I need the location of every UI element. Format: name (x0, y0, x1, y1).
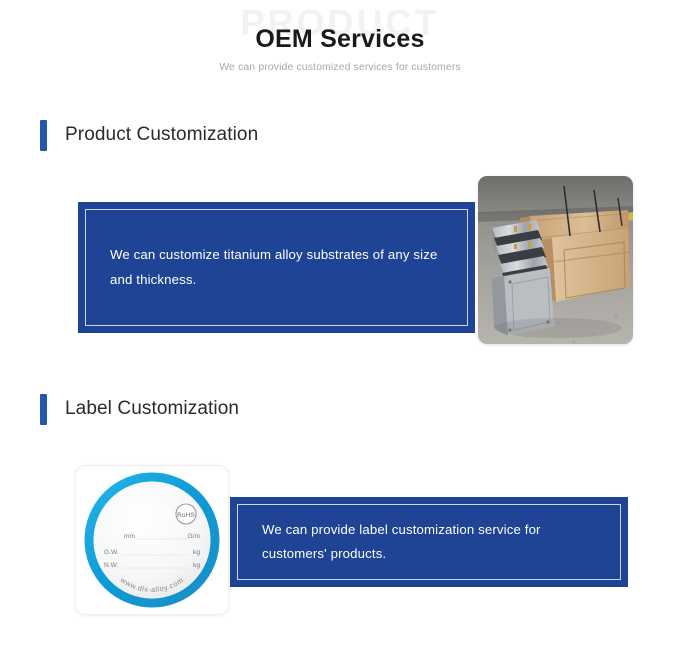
svg-text:N.W.: N.W. (104, 562, 118, 569)
page-subtitle: We can provide customized services for c… (0, 61, 680, 73)
svg-text:kg: kg (193, 562, 200, 569)
packed-titanium-plates-photo (478, 176, 633, 344)
svg-text:RoHS: RoHS (177, 512, 195, 519)
callout-box-label-customization: We can provide label customization servi… (230, 497, 628, 587)
callout-inner-border: We can provide label customization servi… (237, 504, 621, 580)
callout-inner-border: We can customize titanium alloy substrat… (85, 209, 468, 326)
page-title: OEM Services (0, 25, 680, 54)
photo-illustration (478, 176, 633, 344)
section-heading-label: Label Customization (65, 398, 239, 420)
svg-text:kg: kg (193, 549, 200, 556)
label-illustration: RoHS mm G.W. N.W. G/m kg kg www.dlx-allo… (76, 466, 228, 614)
svg-text:G/m: G/m (188, 533, 201, 540)
svg-text:G.W.: G.W. (104, 549, 119, 556)
rohs-badge-icon: RoHS (176, 504, 196, 524)
svg-text:mm: mm (124, 533, 135, 540)
accent-bar-icon (40, 120, 47, 151)
callout-text: We can customize titanium alloy substrat… (110, 243, 443, 292)
section-heading-label-customization: Label Customization (40, 392, 239, 426)
callout-box-product-customization: We can customize titanium alloy substrat… (78, 202, 475, 333)
page-header: PRODUCT OEM Services We can provide cust… (0, 0, 680, 96)
circular-product-label: RoHS mm G.W. N.W. G/m kg kg www.dlx-allo… (76, 466, 228, 614)
section-heading-product-customization: Product Customization (40, 118, 258, 152)
callout-text: We can provide label customization servi… (262, 518, 596, 567)
oem-services-page: PRODUCT OEM Services We can provide cust… (0, 0, 680, 646)
accent-bar-icon (40, 394, 47, 425)
section-heading-label: Product Customization (65, 124, 258, 146)
